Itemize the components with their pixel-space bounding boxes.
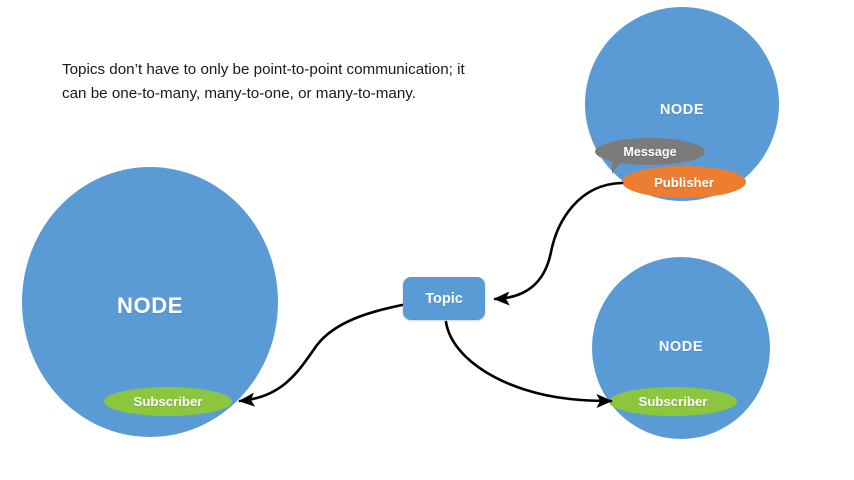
publisher-ellipse: Publisher: [622, 166, 746, 198]
node-label-bottom-right: NODE: [592, 339, 770, 355]
caption-text: Topics don’t have to only be point-to-po…: [62, 58, 482, 105]
subscriber-ellipse-left: Subscriber: [104, 387, 232, 416]
node-label-top-right: NODE: [585, 102, 779, 118]
topic-box: Topic: [403, 277, 485, 320]
subscriber-ellipse-bottom-right: Subscriber: [609, 387, 737, 416]
diagram-canvas: Topics don’t have to only be point-to-po…: [0, 0, 854, 480]
arrow-topic-to-bottom-right-subscriber: [446, 322, 611, 401]
node-label-left: NODE: [22, 293, 278, 319]
message-bubble: Message: [595, 138, 705, 165]
arrow-publisher-to-topic: [495, 183, 622, 299]
